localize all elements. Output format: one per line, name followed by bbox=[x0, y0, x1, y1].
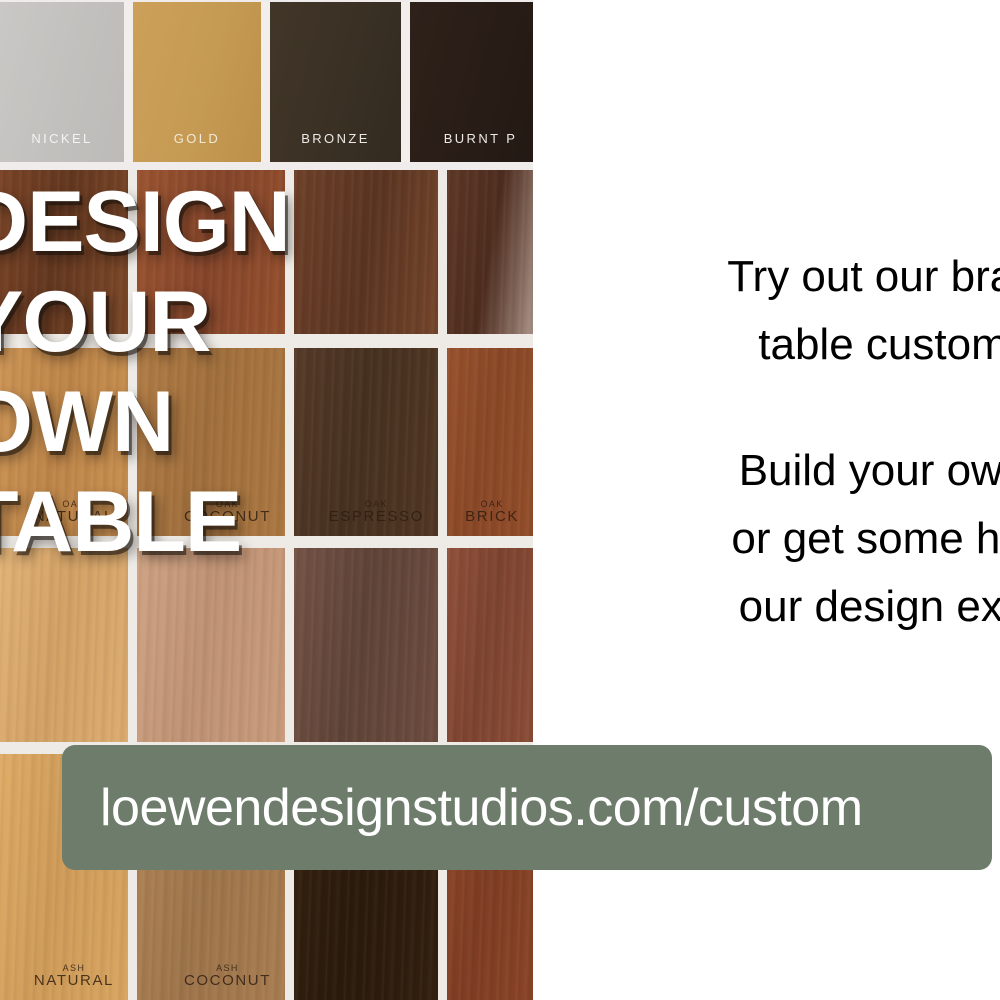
wood-swatch-oak-brick: OAK BRICK bbox=[447, 348, 533, 536]
copy-paragraph-1: Try out our bran table custom bbox=[533, 243, 1000, 379]
copy-paragraph-2: Build your own or get some hel our desig… bbox=[533, 437, 1000, 641]
wood-swatch-r3c1 bbox=[0, 548, 128, 742]
metal-swatch-bronze-label: BRONZE bbox=[270, 131, 401, 146]
metal-swatch-row: NICKEL GOLD BRONZE BURNT P bbox=[0, 0, 533, 170]
headline-line-4: TABLE bbox=[0, 472, 386, 572]
wood-swatch-ash-natural-label: ASH NATURAL bbox=[34, 964, 114, 988]
metal-swatch-gold-label: GOLD bbox=[133, 131, 261, 146]
headline-line-3: OWN bbox=[0, 372, 386, 472]
wood-swatch-r3c2 bbox=[137, 548, 285, 742]
headline-line-2: YOUR bbox=[0, 272, 386, 372]
wood-swatch-r3c3 bbox=[294, 548, 438, 742]
copy-p2-line-1: Build your own bbox=[533, 437, 1000, 505]
wood-swatch-r3c4 bbox=[447, 548, 533, 742]
metal-swatch-bronze: BRONZE bbox=[270, 2, 410, 162]
metal-swatch-nickel-label: NICKEL bbox=[0, 131, 124, 146]
url-banner[interactable]: loewendesignstudios.com/custom bbox=[62, 745, 992, 870]
copy-p1-line-2: table custom bbox=[533, 311, 1000, 379]
metal-swatch-gold: GOLD bbox=[133, 2, 270, 162]
wood-swatch-ash-coconut-label: ASH COCONUT bbox=[184, 964, 271, 988]
copy-p1-line-1: Try out our bran bbox=[533, 243, 1000, 311]
url-banner-text: loewendesignstudios.com/custom bbox=[62, 778, 863, 838]
copy-text: Try out our bran table custom Build your… bbox=[533, 243, 1000, 641]
metal-swatch-burnt-label: BURNT P bbox=[410, 131, 533, 146]
copy-spacer bbox=[533, 379, 1000, 437]
wood-swatch-oak-brick-label: OAK BRICK bbox=[465, 500, 519, 524]
promo-graphic: NICKEL GOLD BRONZE BURNT P OAK bbox=[0, 0, 1000, 1000]
headline-overlay: DESIGN YOUR OWN TABLE bbox=[0, 172, 386, 572]
headline-line-1: DESIGN bbox=[0, 172, 386, 272]
wood-swatch-r1c4 bbox=[447, 170, 533, 334]
metal-swatch-burnt: BURNT P bbox=[410, 2, 533, 162]
copy-p2-line-2: or get some hel bbox=[533, 505, 1000, 573]
metal-swatch-nickel: NICKEL bbox=[0, 2, 133, 162]
copy-p2-line-3: our design exp bbox=[533, 573, 1000, 641]
